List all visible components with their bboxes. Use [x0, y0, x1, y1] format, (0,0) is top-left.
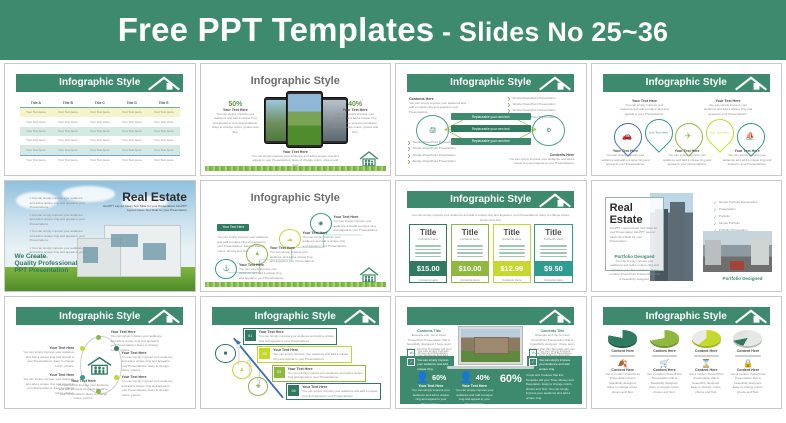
car-icon: 🚗	[614, 125, 640, 149]
leaf-icon: 🍂	[605, 359, 641, 368]
check-row-right-2: ✓ You can simply impress your audience a…	[529, 358, 574, 372]
stat-body: You can simply impress your audience and…	[332, 112, 379, 135]
plan-footer: Contents Here	[452, 276, 488, 283]
slide-thumbnail-3[interactable]: Infographic Style Contents Here You can …	[395, 63, 587, 176]
slide-thumbnail-7[interactable]: Infographic Style You can simply impress…	[395, 180, 587, 293]
table-cell: Your Text Here	[148, 110, 180, 114]
pie-body-2: Easy to change colors, photos and Text.	[605, 385, 641, 394]
pin-body: You can simply impress your audience and…	[619, 103, 670, 117]
slide-1-title: Infographic Style	[59, 77, 140, 88]
table-cell: Your Text Here	[52, 110, 84, 114]
item-body: You can simply impress your audience and…	[273, 352, 349, 361]
plan-price: $12.99	[494, 261, 530, 276]
plus-icon: ✚	[248, 377, 268, 395]
house-photo-screen	[461, 329, 520, 362]
slide-thumbnail-8[interactable]: Real Estate ALLPPT Layout Clean Text Sli…	[591, 180, 783, 293]
phone-mockup-center	[286, 91, 322, 148]
pricing-card-1[interactable]: Title Contents Here $15.00 Contents Here	[409, 224, 447, 283]
slide-12-title: Infographic Style	[646, 311, 727, 322]
person-icon: 👤	[415, 373, 429, 384]
item-body: You can simply impress your audience and…	[288, 371, 364, 380]
pie-label: Content Here	[605, 349, 641, 353]
diagonal-item-3: 03 Your Text Here You can simply impress…	[272, 365, 366, 382]
street-photo	[703, 231, 772, 272]
stat-value: 40%	[476, 375, 490, 382]
pin-caption-bottom-2: Your Text Here You can simply impress yo…	[663, 149, 712, 167]
stat-body: You can simply impress your audience and…	[212, 112, 259, 135]
step-caption-3: Your Text Here You can simply impress yo…	[303, 231, 350, 249]
check-icon: ✓	[713, 221, 716, 226]
check-icon: ✓	[713, 214, 716, 219]
table-row: Your Text Here Your Text Here Your Text …	[20, 108, 180, 117]
stat-body: I hope and I believe that this Template …	[526, 373, 576, 400]
slide-3-title-band: Infographic Style	[407, 74, 574, 91]
page-title-sub: - Slides No 25~36	[434, 17, 668, 47]
text-icon: Your Text Here	[706, 121, 732, 145]
table-cell: Your Text Here	[20, 138, 52, 142]
process-bar-label: Replaceable your own text	[472, 127, 510, 131]
pie-body-2: Easy to change colors, photos and Text.	[646, 385, 682, 394]
roof-icon	[147, 308, 181, 325]
process-bar-1: Replaceable your own text	[451, 113, 531, 120]
plan-footer: Contents Here	[494, 276, 530, 283]
pie-block-3: Content Here ⌛ Content Here Get a modern…	[688, 330, 724, 394]
node-body: You can simply impress your audience and…	[122, 355, 176, 373]
pie-chart-2	[650, 330, 679, 346]
radial-caption-2: Your Text Here You can simply impress yo…	[122, 351, 176, 373]
boat-icon: ⛵	[737, 125, 763, 149]
pie-block-1: Content Here 🍂 Content Here Get a modern…	[605, 330, 641, 394]
radial-caption-3: Your Text Here You can simply impress yo…	[122, 375, 176, 397]
slide-2-title: Infographic Style	[205, 75, 387, 87]
pricing-card-4[interactable]: Title Contents Here $9.50 Contents Here	[534, 224, 572, 283]
cart-icon: 🛒	[646, 359, 682, 368]
step-body: You can simply impress your audience and…	[270, 250, 317, 264]
pin-body: You can simply impress your audience and…	[723, 153, 772, 167]
slide-5-tagline: We Create Quality Professional PPT Prese…	[14, 253, 77, 274]
diagonal-item-1: 01 Your Text Here You can simply impress…	[243, 328, 337, 345]
upload-icon: ▲	[232, 361, 252, 379]
right-heading-block: Contents Here You can simply impress you…	[509, 153, 574, 166]
slide-9-title: Infographic Style	[59, 311, 140, 322]
slide-thumbnail-6[interactable]: Infographic Style Your Text Here You can…	[200, 180, 392, 293]
table-cell: Your Text Here	[116, 129, 148, 133]
pie-body: Get a modern PowerPoint Presentation tha…	[605, 372, 641, 386]
pin-caption-top-2: Your Text Here You can simply impress yo…	[703, 99, 754, 117]
plan-price: $9.50	[535, 261, 571, 276]
slide-thumbnail-4[interactable]: Infographic Style Your Text Here You can…	[591, 63, 783, 176]
portfolio-caption: Portfolio Designed	[722, 276, 762, 281]
table-col-header: Title C	[84, 101, 116, 105]
table-cell: Your Text Here	[116, 158, 148, 162]
table-cell: Your Text Here	[84, 138, 116, 142]
table-header-row: Title A Title B Title C Title D Title E	[20, 101, 180, 108]
slide-4-title-band: Infographic Style	[603, 74, 770, 91]
upload-icon: ▲	[246, 244, 268, 264]
table-row: Your Text Here Your Text Here Your Text …	[20, 117, 180, 126]
checklist-item: Simple Portfolio	[719, 221, 740, 226]
pie-body: Get a modern PowerPoint Presentation tha…	[730, 372, 766, 386]
plan-title: Title	[535, 225, 571, 237]
pricing-intro: You can simply impress your audience and…	[409, 213, 572, 222]
ppt-template-gallery: Free PPT Templates - Slides No 25~36 Inf…	[0, 0, 786, 423]
left-text-panel: Real Estate ALLPPT Layout Clean Text Sli…	[605, 197, 665, 271]
portfolio-checklist: ✓Simple Portfolio Presentation ✓Presenta…	[713, 200, 771, 235]
window-shape	[111, 234, 138, 247]
slide-5-subtitle: ALLPPT Layout Clean Text Slide for your …	[96, 204, 187, 213]
table-col-header: Title A	[20, 101, 52, 105]
plan-title: Title	[410, 225, 446, 237]
table-row: Your Text Here Your Text Here Your Text …	[20, 127, 180, 136]
node-body: You can simply impress your audience and…	[122, 379, 176, 397]
tagline-line: PPT Presentation	[14, 267, 77, 274]
slide-grid: Infographic Style Title A Title B Title …	[0, 60, 786, 412]
table-cell: Your Text Here	[52, 120, 84, 124]
roof-icon	[538, 308, 572, 325]
slide-1-title-band: Infographic Style	[16, 74, 183, 91]
slide-8-subtitle: ALLPPT Layout Clean Text Slide for your …	[610, 226, 660, 244]
roof-icon	[734, 308, 768, 325]
hourglass-icon: ⌛	[688, 359, 724, 368]
pie-body-2: Easy to change colors, photos and Text.	[730, 385, 766, 394]
slide-1-table: Title A Title B Title C Title D Title E …	[20, 101, 180, 165]
roof-icon	[538, 192, 572, 209]
table-col-header: Title B	[52, 101, 84, 105]
table-cell: Your Text Here	[116, 148, 148, 152]
stat-block-left: 50% Your Text Here You can simply impres…	[212, 101, 259, 135]
node-body: You can simply impress your audience and…	[56, 383, 110, 401]
check-icon: ✓	[529, 358, 537, 366]
laptop-base	[447, 366, 534, 369]
page-title: Free PPT Templates - Slides No 25~36	[118, 11, 669, 49]
radial-caption-6: Your Text Here You can simply impress yo…	[56, 379, 110, 401]
table-cell: Your Text Here	[84, 158, 116, 162]
item-body: You can simply impress your audience and…	[302, 389, 378, 398]
table-cell: Your Text Here	[84, 120, 116, 124]
text-icon: Your Text Here	[645, 121, 671, 145]
pie-block-2: Content Here 🛒 Content Here Get a modern…	[646, 330, 682, 394]
step-body: You can simply impress your audience and…	[239, 267, 286, 281]
table-cell: Your Text Here	[148, 148, 180, 152]
node-body: You can simply impress your audience and…	[111, 334, 165, 352]
table-cell: Your Text Here	[148, 120, 180, 124]
plane-icon: ✈	[676, 125, 702, 149]
process-bar-label: Replaceable your own text	[472, 139, 510, 143]
roof-icon	[734, 75, 768, 92]
slide-11-title-band	[407, 307, 574, 324]
checklist-item: Presentation	[719, 207, 736, 212]
laptop-mockup	[458, 326, 523, 365]
pie-chart-3	[692, 330, 721, 346]
check-text: You can simply impress your audience and…	[417, 358, 452, 372]
pie-block-4: Content Here 🔒 Content Here Get a modern…	[730, 330, 766, 394]
table-col-header: Title E	[148, 101, 180, 105]
stat-value: 60%	[500, 373, 522, 400]
slide-10-title: Infographic Style	[255, 311, 336, 322]
pin-marker-2: Your Text Here	[639, 114, 679, 154]
bullets-bottom-left: ❯Simple PowerPoint Presentation ❯Simple …	[407, 140, 476, 166]
plan-title: Title	[494, 225, 530, 237]
table-cell: Your Text Here	[20, 158, 52, 162]
table-cell: Your Text Here	[116, 138, 148, 142]
diagonal-item-2: 02 Your Text Here You can simply impress…	[257, 346, 351, 363]
slide-thumbnail-11[interactable]: Contents Title Example text. Go to inser…	[395, 296, 587, 409]
step-body: You can simply impress your audience and…	[303, 235, 350, 249]
pie-body: Get a modern PowerPoint Presentation tha…	[688, 372, 724, 386]
house-family-icon	[357, 149, 381, 167]
process-bar-2: Replaceable your own text	[451, 125, 531, 132]
grass-decoration	[205, 282, 387, 287]
item-number: 03	[274, 367, 285, 378]
table-cell: Your Text Here	[20, 120, 52, 124]
table-row: Your Text Here Your Text Here Your Text …	[20, 136, 180, 145]
step-body: You can simply impress your audience and…	[333, 219, 380, 233]
item-body: You can simply impress your audience and…	[259, 334, 335, 343]
stat-block-2: 👤 40% Your Text Here You can simply impr…	[454, 373, 494, 404]
check-icon: ✓	[713, 207, 716, 212]
check-icon: ✓	[713, 200, 716, 205]
radial-caption-4: Your Text Here You can simply impress yo…	[20, 346, 74, 368]
plan-footer: Contents Here	[535, 276, 571, 283]
slide-thumbnail-5[interactable]: Real Estate ALLPPT Layout Clean Text Sli…	[4, 180, 196, 293]
table-cell: Your Text Here	[84, 110, 116, 114]
slide-5-title-block: Real Estate ALLPPT Layout Clean Text Sli…	[96, 190, 187, 213]
slide-thumbnail-1[interactable]: Infographic Style Title A Title B Title …	[4, 63, 196, 176]
step-caption-4: Your Text Here You can simply impress yo…	[333, 215, 380, 233]
table-cell: Your Text Here	[84, 148, 116, 152]
plan-price: $10.00	[452, 261, 488, 276]
check-icon: ✓	[407, 349, 415, 357]
slide-3-title: Infographic Style	[450, 77, 531, 88]
check-row-left-2: ✓ You can simply impress your audience a…	[407, 358, 452, 372]
slide-8-title: Real Estate	[610, 202, 660, 226]
step-caption-1: Your Text Here You can simply impress yo…	[239, 263, 286, 281]
roof-icon	[147, 75, 181, 92]
table-cell: Your Text Here	[20, 110, 52, 114]
checklist-item: Simple Portfolio Presentation	[719, 200, 758, 205]
stat-block-right: 40% Your Text Here You can simply impres…	[332, 101, 379, 135]
chevron-right-icon: ❯	[407, 159, 410, 165]
stat-block-1: 👤 60% Your Text Here You can simply impr…	[411, 373, 451, 404]
slide-9-title-band: Infographic Style	[16, 307, 183, 324]
item-number: 04	[288, 385, 299, 396]
table-cell: Your Text Here	[148, 138, 180, 142]
pricing-card-3[interactable]: Title Contents Here $12.99 Contents Here	[493, 224, 531, 283]
house-family-icon	[85, 351, 114, 380]
slide-12-title-band: Infographic Style	[603, 307, 770, 324]
table-row: Your Text Here Your Text Here Your Text …	[20, 155, 180, 165]
plan-footer: Contents Here	[410, 276, 446, 283]
pie-chart-4	[733, 330, 762, 346]
pie-chart-1	[608, 330, 637, 346]
slide-6-title: Infographic Style	[205, 192, 387, 204]
tagline-line: We Create	[14, 253, 77, 260]
table-cell: Your Text Here	[52, 129, 84, 133]
table-cell: Your Text Here	[52, 148, 84, 152]
plan-price: $15.00	[410, 261, 446, 276]
bullet-text: You can simply impress your audience and…	[30, 196, 85, 209]
page-title-main: Free PPT Templates	[118, 11, 435, 48]
stat-value: 60%	[432, 375, 446, 382]
node-body: You can simply impress your audience and…	[20, 350, 74, 368]
step-caption-2: Your Text Here You can simply impress yo…	[270, 246, 317, 264]
bullet-text: Simple PowerPoint Presentation	[512, 96, 555, 101]
table-cell: Your Text Here	[116, 120, 148, 124]
process-bar-label: Replaceable your own text	[472, 115, 510, 119]
slide-7-title: Infographic Style	[450, 194, 531, 205]
pie-label: Content Here	[646, 349, 682, 353]
pie-body: Get a modern PowerPoint Presentation tha…	[646, 372, 682, 386]
slide-thumbnail-12[interactable]: Infographic Style Content Here 🍂 Content…	[591, 296, 783, 409]
bullet-text: Simple PowerPoint Presentation	[413, 159, 456, 165]
slide-10-title-band: Infographic Style	[212, 307, 379, 324]
roof-icon	[343, 308, 377, 325]
stat-body: You can simply impress your audience and…	[454, 388, 494, 404]
house-family-icon	[357, 265, 381, 283]
pin-body: You can simply impress your audience and…	[663, 153, 712, 167]
diagonal-item-4: 04 Your Text Here You can simply impress…	[286, 383, 380, 400]
plan-title: Title	[452, 225, 488, 237]
slide-thumbnail-10[interactable]: Infographic Style ■ ▲ ✚	[200, 296, 392, 409]
check-icon: ✓	[407, 358, 415, 366]
table-cell: Your Text Here	[148, 158, 180, 162]
table-cell: Your Text Here	[20, 148, 52, 152]
table-cell: Your Text Here	[148, 129, 180, 133]
table-cell: Your Text Here	[52, 138, 84, 142]
slide-thumbnail-9[interactable]: Infographic Style	[4, 296, 196, 409]
slide-5-title: Real Estate	[96, 190, 187, 204]
table-row: Your Text Here Your Text Here Your Text …	[20, 145, 180, 154]
right-body: You can simply impress your audience and…	[509, 157, 574, 166]
pie-label: Content Here	[688, 349, 724, 353]
slide-thumbnail-2[interactable]: Infographic Style 50% Your Text Here You…	[200, 63, 392, 176]
lock-icon: 🔒	[730, 359, 766, 368]
table-col-header: Title D	[116, 101, 148, 105]
tagline-line: Quality Professional	[14, 260, 77, 267]
bullet-text: Simple PowerPoint Presentation	[512, 102, 555, 107]
roof-icon	[538, 75, 572, 92]
check-icon: ✓	[529, 349, 537, 357]
pin-body: You can simply impress your audience and…	[601, 153, 650, 167]
checklist-item: Portfolio	[719, 214, 730, 219]
table-cell: Your Text Here	[116, 110, 148, 114]
pie-label: Content Here	[730, 349, 766, 353]
table-cell: Your Text Here	[20, 129, 52, 133]
check-text: You can simply impress your audience and…	[539, 358, 574, 372]
table-cell: Your Text Here	[84, 129, 116, 133]
grass-decoration	[205, 166, 387, 171]
ring-icon: ■	[215, 344, 235, 362]
pin-marker-4: Your Text Here	[700, 114, 740, 154]
bullet-text: You can simply impress your audience and…	[30, 213, 85, 226]
stat-block-3: 60% I hope and I believe that this Templ…	[500, 373, 576, 400]
pricing-card-2[interactable]: Title Contents Here $10.00 Contents Here	[451, 224, 489, 283]
stat-body: You can simply impress your audience and…	[411, 388, 451, 404]
bullet-text: You can simply impress your audience and…	[30, 229, 85, 242]
pin-body: You can simply impress your audience and…	[703, 103, 754, 117]
portfolio-body: You can simply impress your audience and…	[610, 259, 660, 282]
radial-caption-1: Your Text Here You can simply impress yo…	[111, 330, 165, 352]
pin-caption-bottom-1: Your Text Here You can simply impress yo…	[601, 149, 650, 167]
stat-value: 50%	[212, 101, 259, 108]
slide-4-title: Infographic Style	[646, 77, 727, 88]
stat-value: 40%	[332, 101, 379, 108]
window-shape	[143, 243, 166, 261]
pie-body-2: Easy to change colors, photos and Text.	[688, 385, 724, 394]
person-icon: 👤	[459, 373, 473, 384]
item-number: 02	[259, 348, 270, 359]
header-banner: Free PPT Templates - Slides No 25~36	[0, 0, 786, 60]
pin-caption-top-1: Your Text Here You can simply impress yo…	[619, 99, 670, 117]
item-number: 01	[245, 330, 256, 341]
table-cell: Your Text Here	[52, 158, 84, 162]
pin-caption-bottom-3: Your Text Here You can simply impress yo…	[723, 149, 772, 167]
slide-7-title-band: Infographic Style	[407, 191, 574, 208]
